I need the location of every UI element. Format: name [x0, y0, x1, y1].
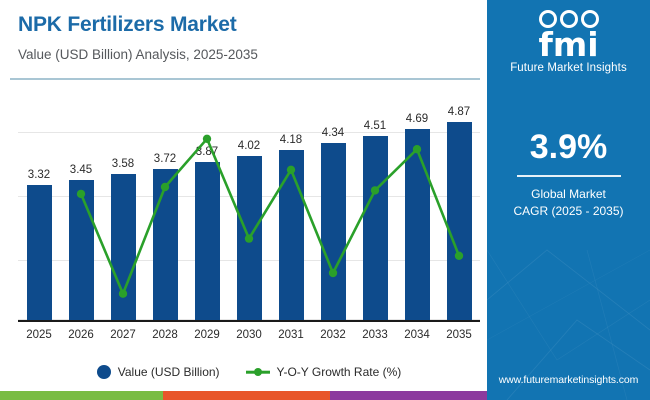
- logo-wordmark: fmi: [487, 29, 650, 61]
- website-url[interactable]: www.futuremarketinsights.com: [487, 374, 650, 386]
- brand-sidebar: fmi Future Market Insights 3.9% Global M…: [487, 0, 650, 400]
- page-subtitle: Value (USD Billion) Analysis, 2025-2035: [18, 46, 487, 63]
- x-axis-tick-label: 2025: [18, 324, 60, 346]
- bar-value-label: 3.58: [112, 158, 134, 170]
- legend-label-value: Value (USD Billion): [118, 365, 220, 379]
- bar[interactable]: 4.34: [321, 143, 346, 320]
- bar[interactable]: 3.87: [195, 162, 220, 320]
- bar-slot: 3.58: [102, 92, 144, 320]
- cagr-callout: 3.9% Global Market CAGR (2025 - 2035): [487, 128, 650, 220]
- bar-slot: 4.18: [270, 92, 312, 320]
- cagr-divider: [517, 175, 621, 177]
- x-axis-line: [18, 320, 480, 322]
- globe-badge-icon: [539, 10, 557, 28]
- bottom-color-stripe: [0, 391, 487, 400]
- infographic-root: NPK Fertilizers Market Value (USD Billio…: [0, 0, 650, 400]
- bar-slot: 3.45: [60, 92, 102, 320]
- bar-slot: 3.32: [18, 92, 60, 320]
- bar-value-label: 4.69: [406, 113, 428, 125]
- world-badge-icon: [581, 10, 599, 28]
- bar[interactable]: 4.18: [279, 150, 304, 320]
- x-axis-tick-label: 2030: [228, 324, 270, 346]
- bar-value-label: 4.87: [448, 106, 470, 118]
- bar-value-label: 3.72: [154, 153, 176, 165]
- logo-badges: [487, 6, 650, 28]
- page-title: NPK Fertilizers Market: [18, 12, 487, 38]
- bar-value-label: 4.02: [238, 140, 260, 152]
- chart-badge-icon: [560, 10, 578, 28]
- chart-legend: Value (USD Billion) Y-O-Y Growth Rate (%…: [18, 360, 480, 384]
- logo-tagline: Future Market Insights: [487, 62, 650, 74]
- legend-swatch-icon: [97, 365, 111, 379]
- bar-value-label: 4.51: [364, 120, 386, 132]
- x-axis-tick-label: 2028: [144, 324, 186, 346]
- x-axis-tick-label: 2027: [102, 324, 144, 346]
- stripe-segment: [330, 391, 487, 400]
- x-axis-tick-label: 2034: [396, 324, 438, 346]
- header-divider: [10, 78, 480, 80]
- x-axis-tick-label: 2026: [60, 324, 102, 346]
- bar[interactable]: 3.72: [153, 169, 178, 320]
- x-axis-tick-label: 2029: [186, 324, 228, 346]
- bar-value-label: 4.18: [280, 134, 302, 146]
- bar-slot: 4.34: [312, 92, 354, 320]
- bar-value-label: 3.32: [28, 169, 50, 181]
- bar[interactable]: 3.32: [27, 185, 52, 320]
- x-axis-labels: 2025202620272028202920302031203220332034…: [18, 324, 480, 346]
- bar-value-label: 3.87: [196, 146, 218, 158]
- x-axis-tick-label: 2032: [312, 324, 354, 346]
- bar-slot: 4.69: [396, 92, 438, 320]
- cagr-caption-line2: CAGR (2025 - 2035): [487, 203, 650, 220]
- legend-item-growth[interactable]: Y-O-Y Growth Rate (%): [246, 365, 402, 379]
- bar-series: 3.323.453.583.723.874.024.184.344.514.69…: [18, 92, 480, 320]
- bar-slot: 4.51: [354, 92, 396, 320]
- x-axis-tick-label: 2035: [438, 324, 480, 346]
- bar-slot: 4.87: [438, 92, 480, 320]
- stripe-segment: [0, 391, 163, 400]
- bar[interactable]: 4.02: [237, 156, 262, 320]
- fmi-logo: fmi Future Market Insights: [487, 6, 650, 74]
- bar-slot: 4.02: [228, 92, 270, 320]
- bar[interactable]: 3.58: [111, 174, 136, 320]
- legend-label-growth: Y-O-Y Growth Rate (%): [277, 365, 402, 379]
- bar-value-label: 4.34: [322, 127, 344, 139]
- cagr-caption-line1: Global Market: [487, 186, 650, 203]
- bar[interactable]: 4.69: [405, 129, 430, 320]
- plot-area: 3.323.453.583.723.874.024.184.344.514.69…: [18, 92, 480, 320]
- bar-slot: 3.72: [144, 92, 186, 320]
- bar-value-label: 3.45: [70, 164, 92, 176]
- chart-header: NPK Fertilizers Market Value (USD Billio…: [0, 0, 487, 78]
- legend-line-icon: [246, 365, 270, 379]
- bar[interactable]: 4.87: [447, 122, 472, 320]
- legend-item-value[interactable]: Value (USD Billion): [97, 365, 220, 379]
- chart-panel: NPK Fertilizers Market Value (USD Billio…: [0, 0, 487, 400]
- bar[interactable]: 3.45: [69, 180, 94, 320]
- stripe-segment: [163, 391, 330, 400]
- x-axis-tick-label: 2033: [354, 324, 396, 346]
- x-axis-tick-label: 2031: [270, 324, 312, 346]
- cagr-value: 3.9%: [487, 128, 650, 166]
- bar[interactable]: 4.51: [363, 136, 388, 320]
- bar-slot: 3.87: [186, 92, 228, 320]
